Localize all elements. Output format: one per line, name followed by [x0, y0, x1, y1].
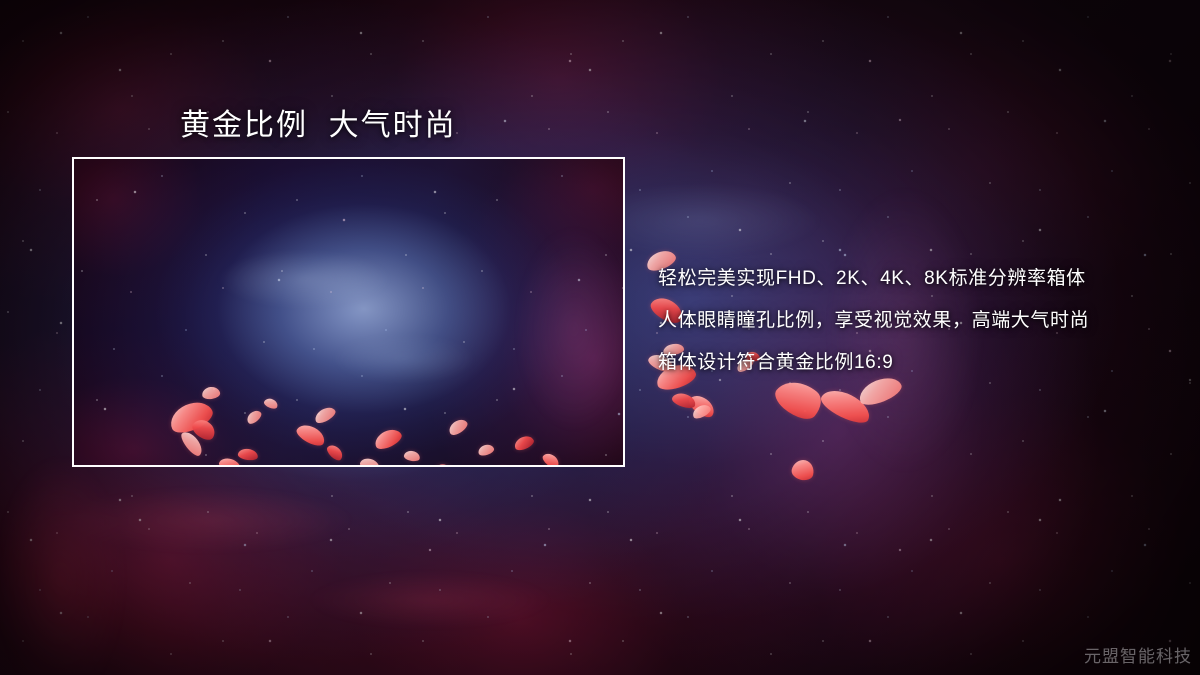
petal-shape: [790, 458, 816, 483]
watermark: 元盟智能科技: [1084, 642, 1192, 667]
frame-nebula-wisps: [74, 159, 623, 465]
galaxy-photo-frame: [72, 157, 625, 467]
body-text-block: 轻松完美实现FHD、2K、4K、8K标准分辨率箱体 人体眼睛瞳孔比例，享受视觉效…: [658, 258, 1178, 384]
petal-shape: [671, 391, 698, 411]
body-line-2: 人体眼睛瞳孔比例，享受视觉效果，高端大气时尚: [658, 300, 1178, 342]
page-title: 黄金比例 大气时尚: [180, 100, 457, 144]
body-line-3: 箱体设计符合黄金比例16:9: [658, 342, 1178, 384]
body-line-1: 轻松完美实现FHD、2K、4K、8K标准分辨率箱体: [658, 258, 1178, 300]
petal-shape: [269, 466, 298, 467]
presentation-slide: 黄金比例 大气时尚 轻松完美实现FHD、2K、4K、8K标准分辨率箱体 人体眼睛…: [0, 0, 1200, 675]
